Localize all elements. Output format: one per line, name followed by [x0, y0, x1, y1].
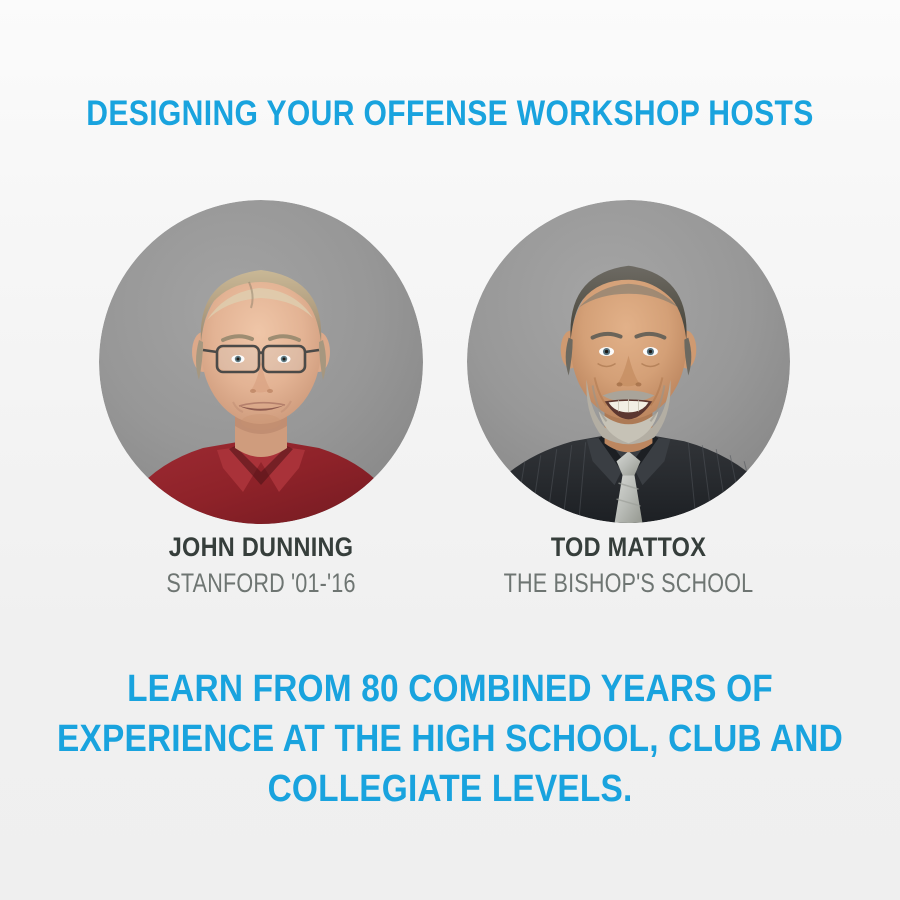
host-school: THE BISHOP'S SCHOOL	[499, 570, 757, 597]
host-caption-tod-mattox: TOD MATTOX THE BISHOP'S SCHOOL	[467, 534, 790, 597]
promo-poster: DESIGNING YOUR OFFENSE WORKSHOP HOSTS	[0, 0, 900, 900]
tagline-line-3: COLLEGIATE LEVELS.	[54, 764, 846, 814]
host-portrait-tod-mattox	[467, 200, 790, 523]
tagline-line-1: LEARN FROM 80 COMBINED YEARS OF	[54, 664, 846, 714]
tagline-line-2: EXPERIENCE AT THE HIGH SCHOOL, CLUB AND	[54, 714, 846, 764]
portrait-john-dunning	[99, 200, 423, 524]
host-name: JOHN DUNNING	[120, 534, 402, 561]
host-name: TOD MATTOX	[488, 534, 769, 561]
page-title: DESIGNING YOUR OFFENSE WORKSHOP HOSTS	[63, 96, 837, 131]
host-caption-row: JOHN DUNNING STANFORD '01-'16 TOD MATTOX…	[0, 534, 900, 624]
portrait-tod-mattox	[467, 200, 790, 523]
host-caption-john-dunning: JOHN DUNNING STANFORD '01-'16	[99, 534, 423, 597]
host-portrait-row	[0, 200, 900, 526]
tagline: LEARN FROM 80 COMBINED YEARS OF EXPERIEN…	[0, 664, 900, 814]
host-school: STANFORD '01-'16	[131, 570, 390, 597]
host-portrait-john-dunning	[99, 200, 423, 524]
